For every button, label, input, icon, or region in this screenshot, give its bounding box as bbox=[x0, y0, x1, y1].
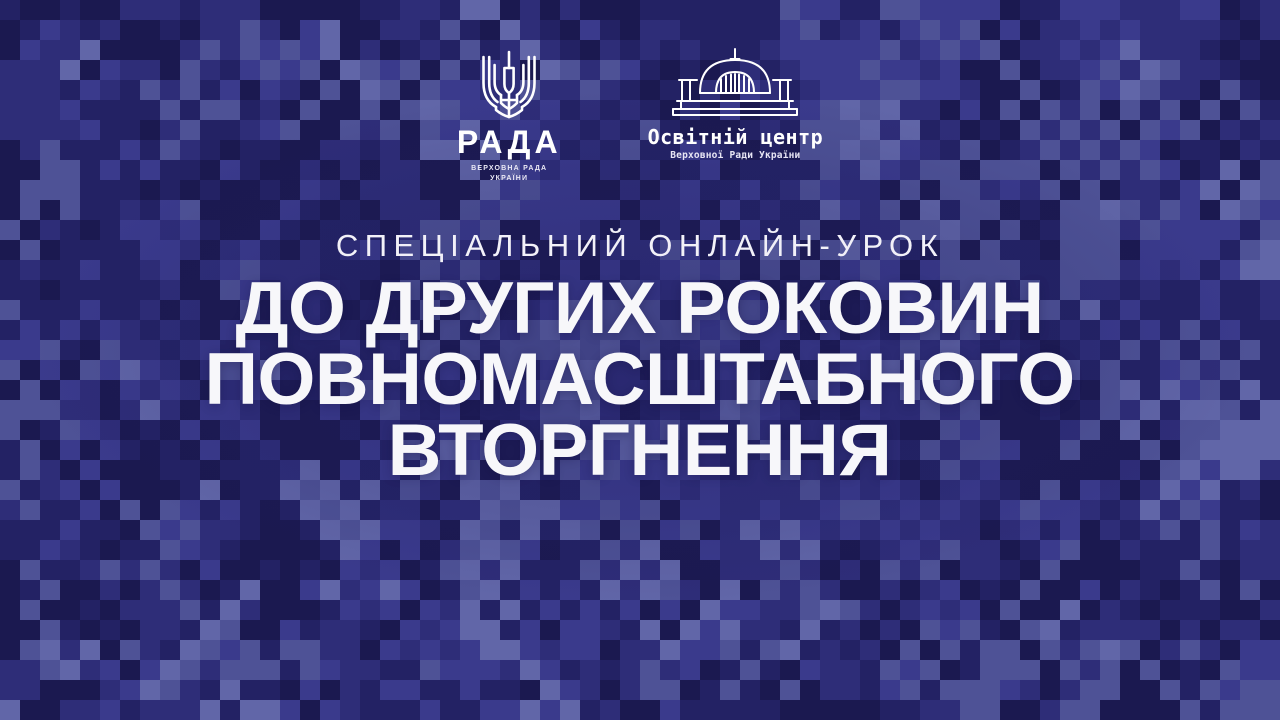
event-kicker: СПЕЦІАЛЬНИЙ ОНЛАЙН-УРОК bbox=[336, 228, 944, 264]
logo-rada-subtitle-line-2: УКРАЇНИ bbox=[471, 174, 547, 184]
logo-rada-wordmark: РАДА bbox=[457, 126, 562, 158]
logo-rada: РАДА ВЕРХОВНА РАДА УКРАЇНИ bbox=[457, 46, 562, 184]
rada-building-dome-icon bbox=[669, 46, 801, 120]
logo-osvitniy-centr: Освітній центр Верховної Ради України bbox=[648, 46, 824, 161]
page-title-line-3: ВТОРГНЕННЯ bbox=[205, 416, 1075, 487]
page-title: ДО ДРУГИХ РОКОВИН ПОВНОМАСШТАБНОГО ВТОРГ… bbox=[205, 274, 1075, 486]
ukrainian-trident-icon bbox=[476, 46, 542, 120]
content-layer: РАДА ВЕРХОВНА РАДА УКРАЇНИ bbox=[0, 0, 1280, 720]
logo-rada-subtitle-line-1: ВЕРХОВНА РАДА bbox=[471, 164, 547, 174]
page-title-line-1: ДО ДРУГИХ РОКОВИН bbox=[205, 274, 1075, 345]
page-title-line-2: ПОВНОМАСШТАБНОГО bbox=[205, 345, 1075, 416]
logo-osvitniy-centr-wordmark: Освітній центр bbox=[648, 127, 824, 147]
title-card: РАДА ВЕРХОВНА РАДА УКРАЇНИ bbox=[0, 0, 1280, 720]
logo-rada-subtitle: ВЕРХОВНА РАДА УКРАЇНИ bbox=[471, 164, 547, 184]
logo-row: РАДА ВЕРХОВНА РАДА УКРАЇНИ bbox=[457, 46, 823, 184]
logo-osvitniy-centr-subtitle: Верховної Ради України bbox=[670, 151, 800, 161]
